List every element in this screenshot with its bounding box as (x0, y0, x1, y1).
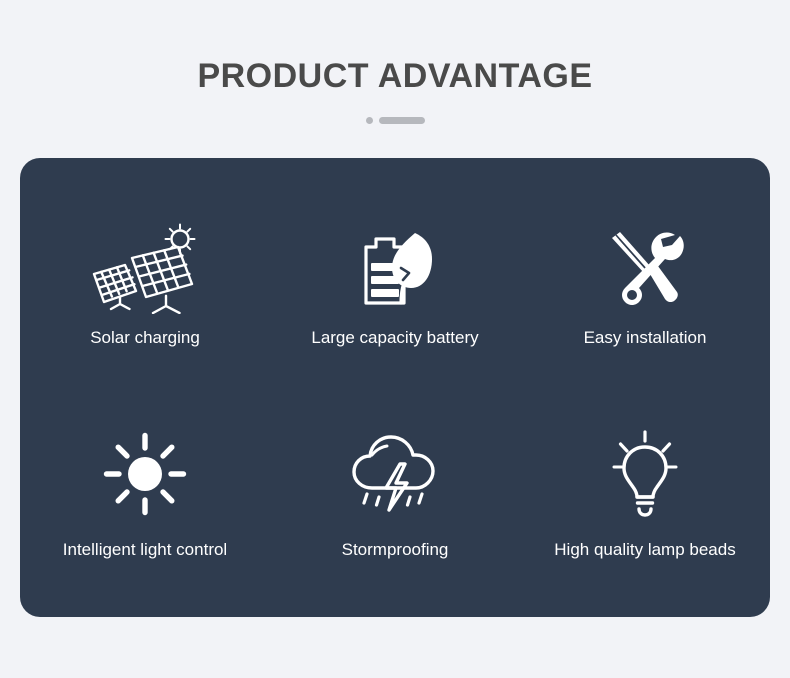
feature-item-high-quality-lamp-beads[interactable]: High quality lamp beads (520, 390, 770, 600)
storm-cloud-icon (348, 428, 442, 520)
feature-label: Stormproofing (342, 540, 449, 560)
solar-panel-icon (90, 222, 200, 314)
title-divider (0, 116, 790, 124)
feature-label: Intelligent light control (63, 540, 227, 560)
feature-item-intelligent-light-control[interactable]: Intelligent light control (20, 390, 270, 600)
features-panel: Solar charging (20, 158, 770, 617)
feature-item-easy-installation[interactable]: Easy installation (520, 180, 770, 390)
wrench-screwdriver-icon (603, 222, 687, 314)
feature-item-stormproofing[interactable]: Stormproofing (270, 390, 520, 600)
eco-battery-icon (354, 222, 436, 314)
feature-item-large-capacity-battery[interactable]: Large capacity battery (270, 180, 520, 390)
feature-item-solar-charging[interactable]: Solar charging (20, 180, 270, 390)
page-title: PRODUCT ADVANTAGE (0, 0, 790, 96)
page-header: PRODUCT ADVANTAGE (0, 0, 790, 124)
light-bulb-icon (601, 428, 689, 520)
divider-bar-icon (379, 117, 425, 124)
feature-label: Easy installation (584, 328, 707, 348)
divider-dot-icon (366, 117, 373, 124)
feature-label: High quality lamp beads (554, 540, 735, 560)
product-advantage-page: PRODUCT ADVANTAGE (0, 0, 790, 678)
sun-icon (103, 428, 187, 520)
feature-label: Large capacity battery (311, 328, 478, 348)
feature-label: Solar charging (90, 328, 200, 348)
